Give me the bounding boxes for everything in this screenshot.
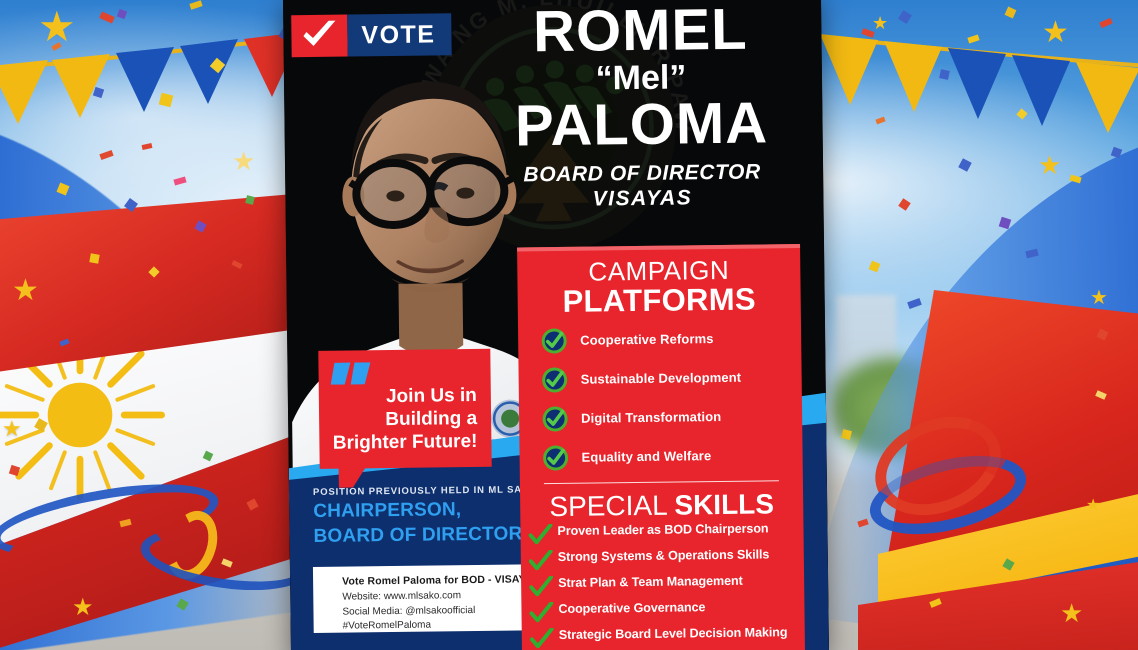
- skill-label: Proven Leader as BOD Chairperson: [557, 522, 768, 539]
- position-held-title-line2: BOARD OF DIRECTORS: [313, 524, 542, 547]
- candidate-region: VISAYAS: [477, 184, 807, 214]
- list-item: Strong Systems & Operations Skills: [529, 547, 798, 570]
- list-item: Cooperative Governance: [529, 599, 798, 622]
- campaign-poster: PWA NG M. LHUILLIER PAWNSHOP EMPLOYEES: [283, 0, 829, 650]
- skills-heading-bold: SKILLS: [674, 488, 774, 520]
- candidate-role: BOARD OF DIRECTOR: [477, 159, 807, 188]
- platform-label: Digital Transformation: [581, 409, 721, 426]
- platforms-list: Cooperative Reforms Sustainable Developm…: [518, 324, 803, 472]
- check-icon: [291, 15, 348, 58]
- list-item: Sustainable Development: [540, 363, 791, 394]
- list-item: Digital Transformation: [541, 402, 792, 433]
- platform-label: Cooperative Reforms: [580, 331, 714, 348]
- platform-label: Sustainable Development: [581, 370, 742, 387]
- skill-label: Strategic Board Level Decision Making: [559, 625, 788, 642]
- quote-mark-icon: [330, 362, 374, 385]
- position-held-title-line1: CHAIRPERSON,: [313, 499, 542, 522]
- check-icon: [530, 628, 554, 648]
- campaign-heading-bold: PLATFORMS: [518, 283, 801, 319]
- check-circle-icon: [541, 444, 569, 472]
- candidate-name-block: ROMEL “Mel” PALOMA BOARD OF DIRECTOR VIS…: [475, 1, 808, 215]
- skill-label: Cooperative Governance: [558, 600, 705, 616]
- list-item: Strategic Board Level Decision Making: [530, 625, 799, 648]
- position-held-label: POSITION PREVIOUSLY HELD IN ML SAKO:: [313, 484, 542, 498]
- check-circle-icon: [540, 327, 568, 355]
- check-circle-icon: [540, 366, 568, 394]
- list-item: Strat Plan & Team Management: [529, 573, 798, 596]
- skills-heading: SPECIAL SKILLS: [520, 489, 803, 522]
- check-icon: [529, 602, 553, 622]
- check-icon: [529, 576, 553, 596]
- check-icon: [529, 550, 553, 570]
- list-item: Equality and Welfare: [541, 441, 792, 472]
- quote-text: Join Us in Building a Brighter Future!: [331, 385, 478, 455]
- check-icon: [528, 524, 552, 544]
- red-content-panel: CAMPAIGN PLATFORMS Cooperative Reforms: [517, 244, 805, 650]
- platform-label: Equality and Welfare: [582, 448, 712, 465]
- skill-label: Strat Plan & Team Management: [558, 574, 743, 590]
- section-divider: [544, 480, 779, 484]
- list-item: Cooperative Reforms: [540, 324, 791, 355]
- check-circle-icon: [541, 405, 569, 433]
- skill-label: Strong Systems & Operations Skills: [558, 548, 770, 565]
- list-item: Proven Leader as BOD Chairperson: [528, 521, 797, 544]
- skills-heading-light: SPECIAL: [549, 489, 674, 522]
- check-glyph: [299, 21, 339, 51]
- candidate-last-name: PALOMA: [476, 96, 807, 155]
- vote-badge[interactable]: VOTE: [291, 13, 452, 57]
- vote-label: VOTE: [347, 13, 452, 56]
- flag-star-2: ★: [2, 418, 22, 440]
- poster-scene: ★ ★ ★ ★ ★ ★ ★ ★ ★ ★ ★ ★ ★: [0, 0, 1138, 650]
- quote-bubble: Join Us in Building a Brighter Future!: [318, 349, 491, 469]
- candidate-first-name: ROMEL: [475, 1, 806, 61]
- position-held-block: POSITION PREVIOUSLY HELD IN ML SAKO: CHA…: [313, 484, 543, 547]
- skills-list: Proven Leader as BOD Chairperson Strong …: [520, 521, 804, 648]
